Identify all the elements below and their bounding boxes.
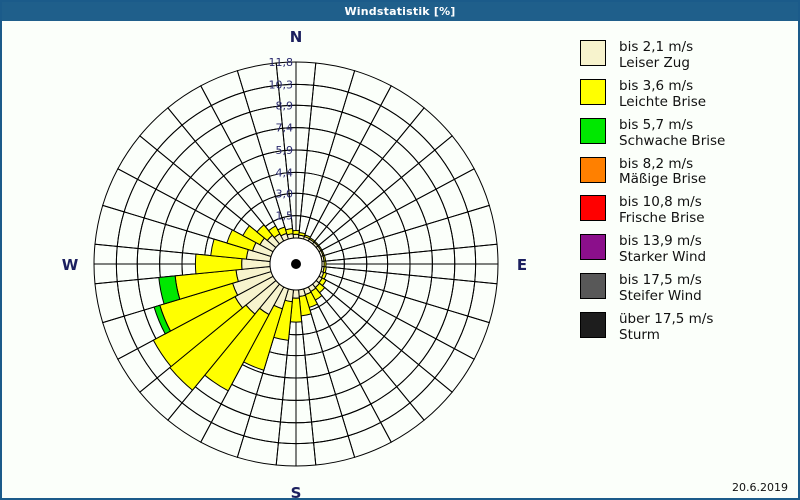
grid-cell [468,282,497,323]
legend-item-name: Leiser Zug [619,56,693,72]
legend-swatch-starker-wind [580,234,606,260]
grid-cell [468,205,497,246]
grid-cell [157,125,195,163]
grid-cell [237,436,278,465]
grid-cell [238,183,263,209]
legend-item-text: bis 13,9 m/sStarker Wind [619,234,706,266]
grid-cell [201,422,244,457]
legend-swatch-schwache-brise [580,118,606,144]
grid-cell [327,295,351,319]
grid-cell [348,71,391,106]
grid-cell [377,210,405,237]
grid-cell [351,206,377,231]
grid-cell [360,369,396,404]
grid-cell [314,436,355,465]
grid-cell [336,112,371,144]
grid-cell [118,136,157,179]
grid-cell [312,416,349,443]
grid-cell [312,85,349,112]
legend-item-speed: bis 5,7 m/s [619,118,725,134]
compass-label-east: E [517,256,527,274]
legend-item-speed: bis 13,9 m/s [619,234,706,250]
window-title: Windstatistik [%] [344,5,455,18]
date-stamp: 20.6.2019 [732,481,788,494]
grid-cell [351,297,377,322]
legend-item[interactable]: bis 8,2 m/sMäßige Brise [580,157,790,189]
grid-cell [384,177,416,210]
grid-cell [360,124,396,159]
grid-cell [176,177,208,210]
grid-cell [454,169,489,212]
legend-item-speed: bis 2,1 m/s [619,40,693,56]
radial-tick-label: 3,0 [276,187,294,200]
grid-cell [348,422,391,457]
grid-cell [384,318,416,351]
legend-item[interactable]: bis 13,9 m/sStarker Wind [580,234,790,266]
grid-cell [144,189,176,224]
grid-cell [448,280,475,317]
grid-cell [397,125,435,163]
grid-cell [381,86,424,125]
grid-cell [427,218,454,251]
grid-cell [339,163,368,193]
window-titlebar: Windstatistik [%] [2,2,798,21]
grid-cell [384,273,410,297]
grid-cell [168,86,211,125]
legend-item-text: bis 2,1 m/sLeiser Zug [619,40,693,72]
legend-item-name: Starker Wind [619,250,706,266]
radial-tick-label: 8,9 [276,99,294,112]
grid-cell [401,328,436,364]
grid-cell [383,141,419,177]
grid-cell [358,221,383,244]
legend-swatch-frische-brise [580,195,606,221]
grid-cell [208,176,238,206]
legend-item-speed: bis 10,8 m/s [619,195,705,211]
grid-cell [323,345,350,373]
radial-tick-label: 7,4 [276,122,294,135]
grid-cell [350,144,383,176]
legend-item-text: bis 8,2 m/sMäßige Brise [619,157,706,189]
grid-cell [435,136,474,179]
grid-cell [314,63,355,92]
legend-item-text: bis 17,5 m/sSteifer Wind [619,273,702,305]
grid-cell [342,243,366,259]
grid-cell [327,209,351,233]
grid-cell [383,351,419,387]
grid-cell [187,210,215,237]
grid-cell [354,322,384,352]
compass-label-north: N [290,28,303,46]
grid-cell [215,206,241,231]
legend-swatch-leichte-brise [580,79,606,105]
grid-cell [309,395,342,422]
legend-swatch-leiser-zug [580,40,606,66]
legend-item-text: über 17,5 m/sSturm [619,312,713,344]
grid-cell [410,378,452,420]
grid-cell [317,326,340,351]
grid-cell [183,231,209,255]
grid-cell [397,365,435,403]
grid-cell [448,212,475,249]
radial-tick-label: 1,5 [276,210,294,223]
radial-tick-label: 10,3 [269,78,294,91]
grid-cell [410,108,452,150]
grid-cell [454,316,489,359]
grid-cell [368,336,401,369]
grid-cell [140,108,182,150]
radial-tick-label: 5,9 [276,144,294,157]
grid-cell [329,319,354,345]
grid-cell [305,151,329,177]
legend: bis 2,1 m/sLeiser Zugbis 3,6 m/sLeichte … [580,40,790,351]
grid-cell [354,176,384,206]
grid-cell [364,237,387,257]
grid-cell [435,349,474,392]
grid-cell [329,183,354,209]
grid-cell [253,176,276,201]
grid-cell [140,378,182,420]
legend-item[interactable]: bis 17,5 m/sSteifer Wind [580,273,790,305]
wind-sector-segment [293,231,300,235]
legend-item-name: Leichte Brise [619,95,706,111]
window-root: Windstatistik [%] 1,53,04,45,97,48,910,3… [0,0,800,500]
grid-cell [368,159,401,192]
grid-cell [329,133,360,163]
grid-cell [341,309,367,335]
grid-cell [225,193,251,219]
grid-cell [117,212,144,249]
grid-cell [397,297,427,328]
legend-item-text: bis 5,7 m/sSchwache Brise [619,118,725,150]
grid-cell [242,155,269,183]
grid-cell [195,192,225,221]
grid-cell [173,141,209,177]
legend-item-speed: bis 3,6 m/s [619,79,706,95]
grid-cell [367,192,397,221]
wind-sector-segment [286,228,293,234]
grid-cell [156,163,191,199]
legend-item-name: Sturm [619,328,713,344]
legend-item-text: bis 10,8 m/sFrische Brise [619,195,705,227]
grid-cell [384,231,410,255]
legend-item-text: bis 3,6 m/sLeichte Brise [619,79,706,111]
grid-cell [341,193,367,219]
grid-cell [168,403,211,442]
legend-item-speed: bis 8,2 m/s [619,157,706,173]
grid-cell [381,403,424,442]
legend-item[interactable]: über 17,5 m/sSturm [580,312,790,344]
grid-cell [416,304,448,339]
legend-item[interactable]: bis 3,6 m/sLeichte Brise [580,79,790,111]
grid-cell [339,335,368,365]
legend-item-speed: bis 17,5 m/s [619,273,702,289]
grid-cell [195,124,231,159]
compass-label-south: S [291,484,302,498]
grid-cell [224,163,253,193]
legend-item-name: Steifer Wind [619,289,702,305]
legend-item-name: Mäßige Brise [619,172,706,188]
wind-sectors [153,225,326,391]
legend-item[interactable]: bis 10,8 m/sFrische Brise [580,195,790,227]
legend-swatch-sturm [580,312,606,338]
grid-cell [191,159,224,192]
wind-sector-segment [324,261,326,267]
legend-swatch-steifer-wind [580,273,606,299]
grid-cell [305,352,329,378]
legend-item[interactable]: bis 2,1 m/sLeiser Zug [580,40,790,72]
legend-item-name: Schwache Brise [619,134,725,150]
grid-cell [377,291,405,318]
radial-tick-label: 4,4 [276,166,294,179]
compass-label-west: W [62,256,79,274]
legend-item[interactable]: bis 5,7 m/sSchwache Brise [580,118,790,150]
grid-cell [201,71,244,106]
grid-cell [367,307,397,336]
grid-cell [209,144,242,176]
legend-item-speed: über 17,5 m/s [619,312,713,328]
legend-swatch-maessige-brise [580,157,606,183]
grid-cell [95,282,124,323]
grid-cell [95,205,124,246]
center-dot [291,259,301,269]
grid-cell [103,169,138,212]
grid-cell [350,352,383,384]
grid-cell [103,316,138,359]
grid-cell [117,280,144,317]
grid-cell [244,416,281,443]
grid-cell [303,332,323,355]
grid-cell [323,155,350,183]
radial-tick-label: 11,8 [269,56,294,69]
grid-cell [165,200,195,231]
legend-item-name: Frische Brise [619,211,705,227]
grid-cell [118,349,157,392]
grid-cell [401,163,436,199]
